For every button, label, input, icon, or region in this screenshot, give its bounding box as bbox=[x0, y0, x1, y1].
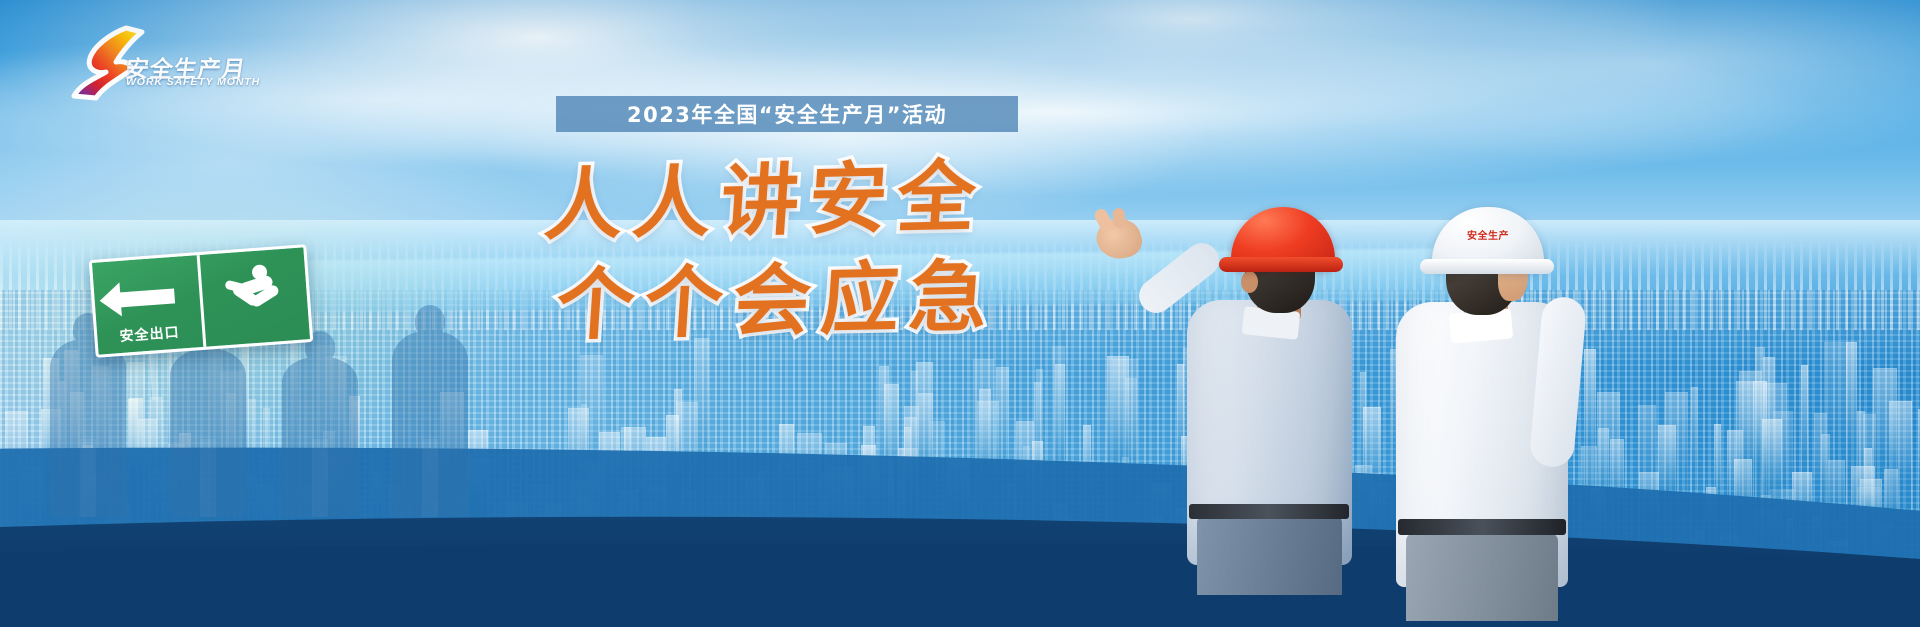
person-silhouette bbox=[392, 331, 468, 517]
exit-sign-arrow-panel: 安全出口 bbox=[92, 255, 203, 354]
worker-left-red-helmet bbox=[1145, 145, 1380, 565]
red-hard-hat-icon bbox=[1231, 207, 1335, 269]
headline-line-2: 个个会应急 bbox=[553, 247, 1068, 357]
white-hard-hat-icon: 安全生产 bbox=[1432, 207, 1544, 271]
campaign-subtitle-bar: 2023年全国“安全生产月”活动 bbox=[556, 96, 1018, 132]
worker-left-belt bbox=[1189, 504, 1349, 519]
headline-line-1: 人人讲安全 bbox=[541, 147, 1068, 258]
exit-sign-label: 安全出口 bbox=[97, 320, 203, 348]
emergency-exit-sign: 安全出口 bbox=[89, 244, 314, 358]
campaign-subtitle-text: 2023年全国“安全生产月”活动 bbox=[627, 99, 947, 129]
worker-right-belt bbox=[1398, 519, 1566, 535]
worker-right-white-helmet: 安全生产 bbox=[1360, 137, 1600, 587]
exit-sign-pictogram-panel bbox=[196, 247, 310, 347]
person-silhouette bbox=[170, 349, 246, 517]
worker-right-trousers bbox=[1406, 533, 1558, 621]
main-headline: 人人讲安全 个个会应急 bbox=[545, 152, 1065, 352]
worker-left-trousers bbox=[1197, 515, 1342, 595]
helmet-text: 安全生产 bbox=[1432, 227, 1544, 242]
worker-left-ear bbox=[1241, 271, 1258, 293]
running-person-icon bbox=[221, 263, 287, 325]
safety-month-banner: 安全出口 bbox=[0, 0, 1920, 627]
left-arrow-icon bbox=[118, 288, 175, 307]
person-silhouette bbox=[282, 357, 358, 517]
logo-english-name: WORK SAFETY MONTH bbox=[126, 76, 260, 88]
person-silhouette bbox=[50, 339, 126, 517]
work-safety-month-logo: 安全生产月 WORK SAFETY MONTH bbox=[66, 22, 226, 102]
